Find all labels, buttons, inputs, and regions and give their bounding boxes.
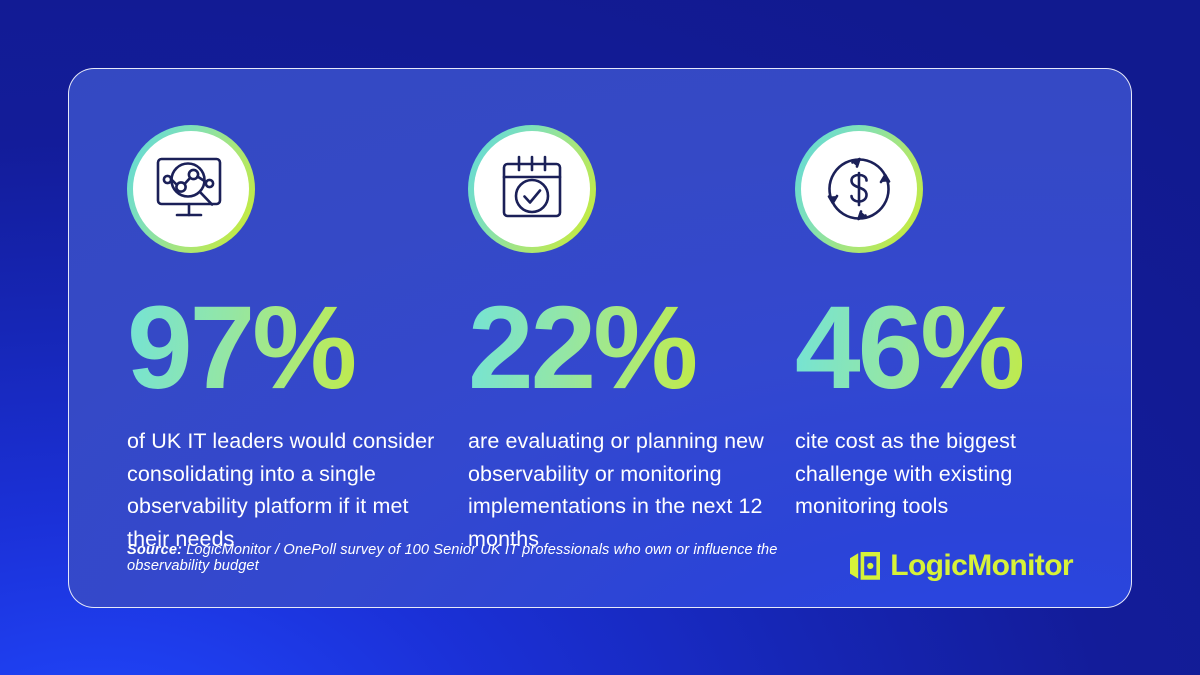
stat-icon-badge-3 <box>795 125 923 253</box>
stat-icon-badge-2 <box>468 125 596 253</box>
stats-card: 97% of UK IT leaders would consider cons… <box>68 68 1132 608</box>
stat-icon-badge-1 <box>127 125 255 253</box>
source-text: LogicMonitor / OnePoll survey of 100 Sen… <box>127 542 777 574</box>
stat-column-3: 46% cite cost as the biggest challenge w… <box>793 125 1126 607</box>
logicmonitor-cube-icon <box>849 551 881 581</box>
source-label: Source: <box>127 542 182 558</box>
infographic-page: { "theme": { "outer_bg_dark": "#111A8F",… <box>0 0 1200 675</box>
dollar-cycle-icon <box>801 131 917 247</box>
stat-column-2: 22% are evaluating or planning new obser… <box>460 125 793 607</box>
card-footer: Source: LogicMonitor / OnePoll survey of… <box>127 542 1073 581</box>
stat-description-2: are evaluating or planning new observabi… <box>468 425 780 556</box>
stats-columns: 97% of UK IT leaders would consider cons… <box>69 69 1131 607</box>
logicmonitor-logo: LogicMonitor <box>849 551 1073 581</box>
source-note: Source: LogicMonitor / OnePoll survey of… <box>127 542 849 581</box>
stat-value-2: 22% <box>468 289 793 407</box>
stat-description-3: cite cost as the biggest challenge with … <box>795 425 1063 523</box>
dashboard-analytics-magnifier-icon <box>133 131 249 247</box>
stat-column-1: 97% of UK IT leaders would consider cons… <box>127 125 460 607</box>
stat-value-1: 97% <box>127 289 460 407</box>
calendar-check-icon <box>474 131 590 247</box>
stat-description-1: of UK IT leaders would consider consolid… <box>127 425 447 556</box>
stat-value-3: 46% <box>795 289 1126 407</box>
logicmonitor-wordmark: LogicMonitor <box>890 551 1073 581</box>
